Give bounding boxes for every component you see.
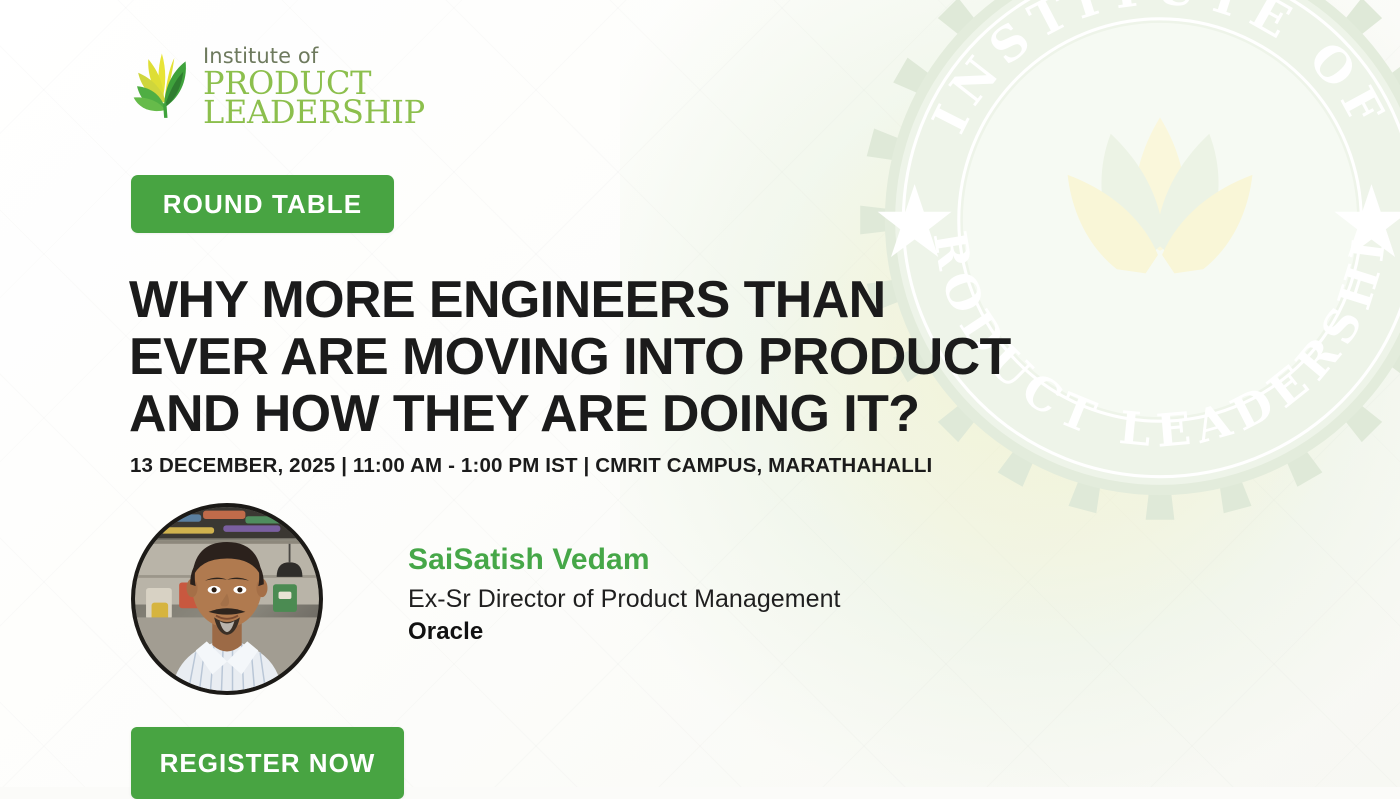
round-table-badge: ROUND TABLE xyxy=(131,175,394,233)
leaf-logo-icon xyxy=(129,49,197,119)
brand-logo[interactable]: Institute of PRODUCT LEADERSHIP xyxy=(129,42,425,128)
logo-line-leadership: LEADERSHIP xyxy=(203,98,425,127)
speaker-avatar xyxy=(131,503,323,695)
register-now-label: REGISTER NOW xyxy=(160,748,376,779)
speaker-company: Oracle xyxy=(408,618,841,646)
register-now-button[interactable]: REGISTER NOW xyxy=(131,727,404,799)
speaker-name: SaiSatish Vedam xyxy=(408,543,841,578)
event-meta-line: 13 DECEMBER, 2025 | 11:00 AM - 1:00 PM I… xyxy=(130,454,932,478)
headline-line-3: AND HOW THEY ARE DOING IT? xyxy=(129,386,1129,443)
headline-line-1: WHY MORE ENGINEERS THAN xyxy=(129,272,1129,329)
speaker-role: Ex-Sr Director of Product Management xyxy=(408,584,841,614)
headline-line-2: EVER ARE MOVING INTO PRODUCT xyxy=(129,329,1129,386)
page-title: WHY MORE ENGINEERS THAN EVER ARE MOVING … xyxy=(129,272,1129,443)
speaker-block: SaiSatish Vedam Ex-Sr Director of Produc… xyxy=(131,503,841,695)
speaker-photo xyxy=(135,507,319,691)
round-table-badge-label: ROUND TABLE xyxy=(163,189,362,220)
